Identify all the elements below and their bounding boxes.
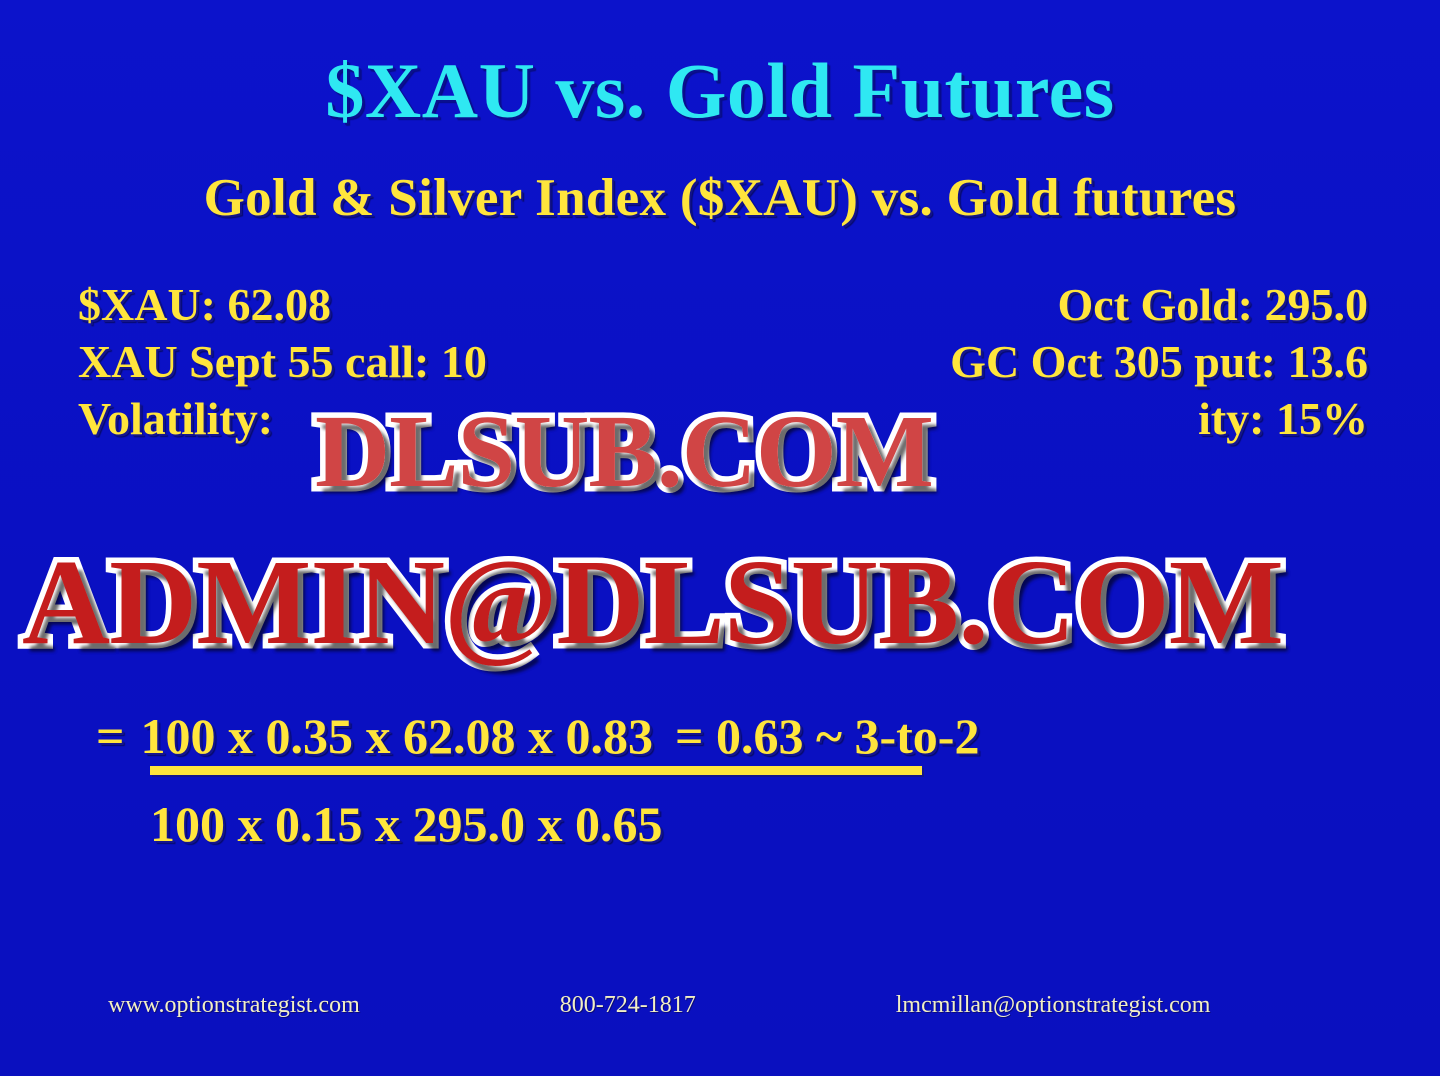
- formula-denominator: 100 x 0.15 x 295.0 x 0.65: [150, 795, 663, 853]
- quote-data-grid: $XAU: 62.08 Oct Gold: 295.0 XAU Sept 55 …: [78, 278, 1368, 449]
- watermark-email: ADMIN@DLSUB.COM ADMIN@DLSUB.COM: [22, 533, 1283, 673]
- footer-website: www.optionstrategist.com: [108, 992, 360, 1019]
- slide-subtitle: Gold & Silver Index ($XAU) vs. Gold futu…: [0, 168, 1440, 228]
- footer-email: lmcmillan@optionstrategist.com: [896, 992, 1211, 1019]
- formula-numerator: 100 x 0.35 x 62.08 x 0.83: [141, 707, 654, 765]
- gc-put-option-label: GC Oct 305 put: 13.6: [950, 335, 1368, 388]
- xau-volatility-label: Volatility:: [78, 392, 273, 445]
- presentation-slide: $XAU vs. Gold Futures Gold & Silver Inde…: [0, 0, 1440, 1076]
- watermark-email-fill: ADMIN@DLSUB.COM: [22, 533, 1283, 673]
- table-row: XAU Sept 55 call: 10 GC Oct 305 put: 13.…: [78, 335, 1368, 392]
- ratio-formula: = 100 x 0.35 x 62.08 x 0.83 = 0.63 ~ 3-t…: [0, 706, 1440, 854]
- xau-call-option-label: XAU Sept 55 call: 10: [78, 335, 487, 388]
- gold-price-label: Oct Gold: 295.0: [1058, 278, 1368, 331]
- formula-denominator-line: 100 x 0.15 x 295.0 x 0.65: [0, 794, 1440, 854]
- slide-title: $XAU vs. Gold Futures: [0, 46, 1440, 136]
- footer-phone: 800-724-1817: [560, 992, 696, 1019]
- formula-equals-sign: =: [96, 707, 125, 765]
- formula-result: = 0.63 ~ 3-to-2: [675, 707, 979, 765]
- formula-numerator-line: = 100 x 0.35 x 62.08 x 0.83 = 0.63 ~ 3-t…: [0, 706, 1440, 766]
- xau-price-label: $XAU: 62.08: [78, 278, 331, 331]
- table-row: $XAU: 62.08 Oct Gold: 295.0: [78, 278, 1368, 335]
- gold-volatility-label: ity: 15%: [1198, 392, 1368, 445]
- slide-footer: www.optionstrategist.com 800-724-1817 lm…: [0, 992, 1440, 1019]
- watermark-email-outline: ADMIN@DLSUB.COM: [22, 535, 1283, 670]
- fraction-bar: [150, 766, 922, 775]
- table-row: Volatility: ity: 15%: [78, 392, 1368, 449]
